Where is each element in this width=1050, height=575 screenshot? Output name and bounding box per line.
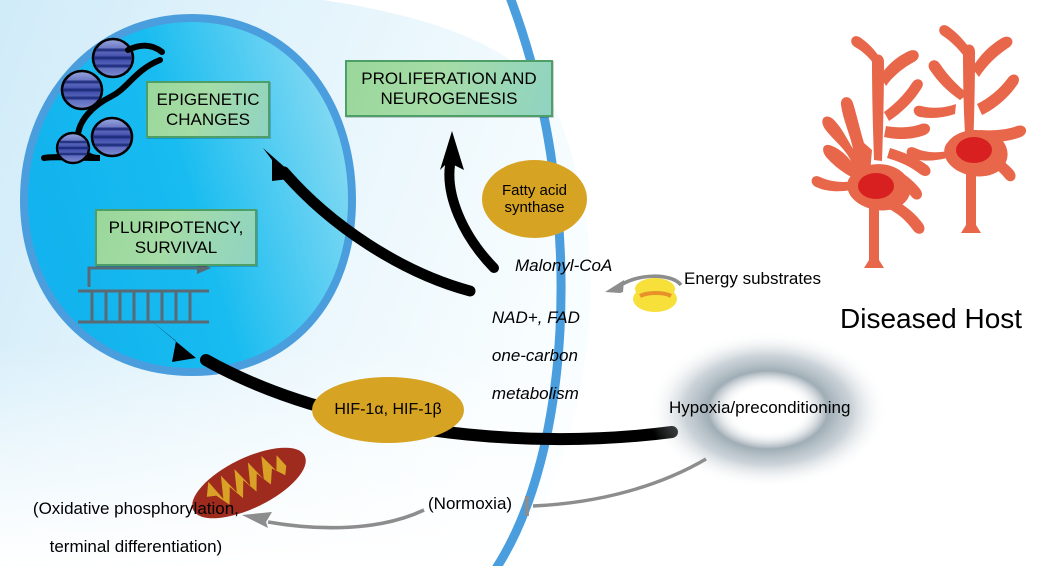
oval-fatty-acid-synthase-line1: Fatty acid <box>502 182 567 199</box>
neuron-nucleus-right <box>956 137 992 163</box>
oval-fatty-acid-synthase: Fatty acid synthase <box>482 160 587 238</box>
label-normoxia: (Normoxia) <box>428 494 512 514</box>
label-oxidative-phosphorylation: (Oxidative phosphorylation, terminal dif… <box>14 480 239 575</box>
neuron-pair-icon <box>812 25 1026 268</box>
label-cofactors-line3: metabolism <box>492 384 579 403</box>
label-energy-substrates: Energy substrates <box>684 269 821 289</box>
label-oxphos-line2: terminal differentiation) <box>50 537 223 556</box>
box-pluripotency-survival-line2: SURVIVAL <box>135 238 218 257</box>
neuron-nucleus-left <box>858 173 894 199</box>
box-pluripotency-survival: PLURIPOTENCY, SURVIVAL <box>95 209 257 266</box>
oval-hif-transcription-factors: HIF-1α, HIF-1β <box>312 377 464 443</box>
box-proliferation-neurogenesis: PROLIFERATION AND NEUROGENESIS <box>345 60 553 117</box>
label-diseased-host: Diseased Host <box>840 303 1022 335</box>
box-proliferation-neurogenesis-line1: PROLIFERATION AND <box>361 69 536 88</box>
membrane-transporter-icon <box>605 276 681 312</box>
label-oxphos-line1: (Oxidative phosphorylation, <box>33 499 239 518</box>
box-pluripotency-survival-line1: PLURIPOTENCY, <box>109 218 244 237</box>
box-epigenetic-changes: EPIGENETIC CHANGES <box>146 81 270 138</box>
oval-fatty-acid-synthase-line2: synthase <box>504 199 564 216</box>
label-cofactors-line1: NAD+, FAD <box>492 308 580 327</box>
figure-canvas: EPIGENETIC CHANGES PLURIPOTENCY, SURVIVA… <box>0 0 1050 566</box>
label-malonyl-coa: Malonyl-CoA <box>515 256 612 275</box>
label-cofactors-line2: one-carbon <box>492 346 578 365</box>
oval-hif-label: HIF-1α, HIF-1β <box>334 401 441 419</box>
box-proliferation-neurogenesis-line2: NEUROGENESIS <box>381 89 518 108</box>
box-epigenetic-changes-line1: EPIGENETIC <box>157 90 260 109</box>
box-epigenetic-changes-line2: CHANGES <box>166 110 250 129</box>
label-cofactors: NAD+, FAD one-carbon metabolism <box>473 289 580 422</box>
label-hypoxia-preconditioning: Hypoxia/preconditioning <box>669 398 850 418</box>
